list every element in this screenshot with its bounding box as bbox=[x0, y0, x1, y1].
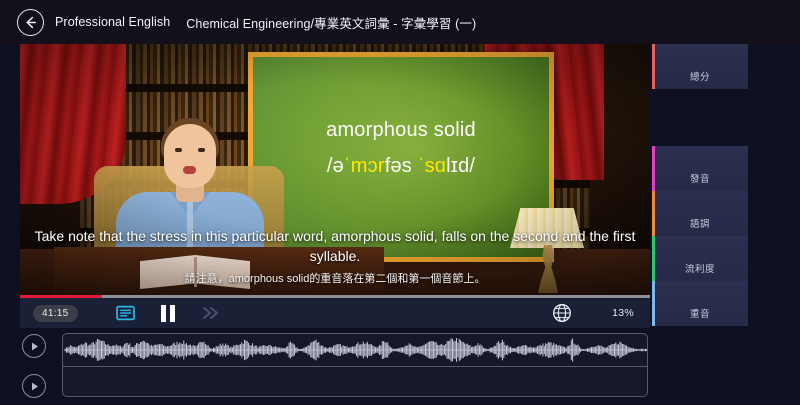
ipa-stress-2: ˈsɑ bbox=[418, 155, 446, 177]
language-globe-button[interactable] bbox=[552, 303, 572, 323]
accent-bar bbox=[652, 44, 655, 89]
teacher-head bbox=[164, 124, 216, 188]
header-bar: Professional English Chemical Engineerin… bbox=[0, 0, 800, 44]
waveform-reference[interactable] bbox=[63, 334, 647, 366]
audio-comparison-panel bbox=[20, 332, 650, 400]
globe-icon bbox=[552, 303, 572, 323]
score-card-label: 發音 bbox=[690, 171, 710, 185]
fast-forward-icon bbox=[201, 306, 221, 320]
score-card-label: 總分 bbox=[690, 69, 710, 83]
accent-bar bbox=[652, 191, 655, 236]
pause-bar-right bbox=[170, 305, 175, 322]
ipa-part-2: fəs bbox=[385, 155, 418, 177]
play-icon bbox=[29, 381, 40, 392]
play-button-column bbox=[22, 334, 58, 398]
ipa-part-3: lɪd/ bbox=[446, 155, 475, 177]
waveform-graphic bbox=[63, 334, 648, 366]
score-card-label: 重音 bbox=[690, 306, 710, 320]
closed-caption-button[interactable] bbox=[116, 305, 135, 321]
lesson-title: Chemical Engineering/專業英文詞彙 - 字彙學習 (一) bbox=[186, 13, 476, 32]
pause-bar-left bbox=[161, 305, 166, 322]
play-reference-button[interactable] bbox=[22, 334, 46, 358]
time-display: 41:15 bbox=[33, 305, 78, 322]
course-title: Professional English bbox=[55, 15, 170, 29]
ipa-stress-1: ˈmɔr bbox=[344, 155, 385, 177]
sidebar-gap bbox=[652, 89, 762, 146]
accent-bar bbox=[652, 146, 655, 191]
subtitle-container: Take note that the stress in this partic… bbox=[20, 226, 650, 286]
score-card-metric[interactable]: 發音 bbox=[652, 146, 748, 191]
video-player[interactable]: amorphous solid /əˈmɔrfəs ˈsɑlɪd/ Take n… bbox=[20, 44, 650, 295]
score-card-metric[interactable]: 語調 bbox=[652, 191, 748, 236]
app-root: Professional English Chemical Engineerin… bbox=[0, 0, 800, 405]
score-metric-list: 發音語調流利度重音 bbox=[652, 146, 762, 326]
player-control-bar: 41:15 bbox=[20, 295, 650, 328]
closed-caption-icon bbox=[116, 305, 135, 321]
waveform-box[interactable] bbox=[62, 333, 648, 397]
waveform-recording-empty[interactable] bbox=[63, 367, 647, 397]
teacher-eye-right bbox=[198, 148, 205, 152]
score-sidebar: 總分 發音語調流利度重音 bbox=[652, 44, 762, 326]
teacher-mouth bbox=[183, 166, 196, 174]
score-card-metric[interactable]: 流利度 bbox=[652, 236, 748, 281]
score-card-label: 語調 bbox=[690, 216, 710, 230]
accent-bar bbox=[652, 236, 655, 281]
back-button[interactable] bbox=[17, 9, 44, 36]
ipa-part-1: /ə bbox=[327, 155, 344, 177]
score-card-label: 流利度 bbox=[685, 261, 715, 275]
subtitle-chinese: 請注意，amorphous solid的重音落在第二個和第一個音節上。 bbox=[34, 270, 636, 286]
play-icon bbox=[29, 341, 40, 352]
score-card-total[interactable]: 總分 bbox=[652, 44, 748, 89]
vocabulary-ipa: /əˈmɔrfəs ˈsɑlɪd/ bbox=[253, 155, 549, 178]
pause-button[interactable] bbox=[161, 305, 175, 322]
progress-percent-label: 13% bbox=[612, 307, 634, 319]
teacher-eye-left bbox=[175, 148, 182, 152]
vocabulary-word: amorphous solid bbox=[253, 119, 549, 142]
accent-bar bbox=[652, 281, 655, 326]
back-arrow-icon bbox=[23, 15, 38, 30]
subtitle-english: Take note that the stress in this partic… bbox=[34, 226, 636, 266]
score-card-metric[interactable]: 重音 bbox=[652, 281, 748, 326]
play-recording-button[interactable] bbox=[22, 374, 46, 398]
fast-forward-button[interactable] bbox=[201, 306, 221, 320]
